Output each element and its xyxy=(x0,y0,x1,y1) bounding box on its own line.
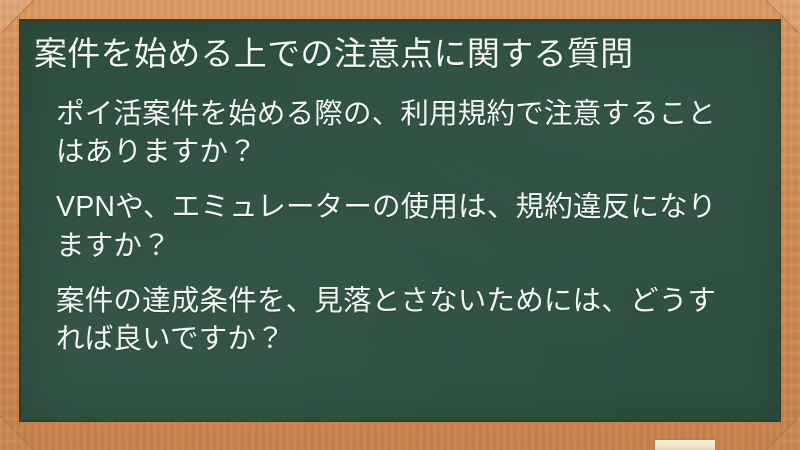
question-item: 案件の達成条件を、見落とさないためには、どうすれば良いですか？ xyxy=(56,282,728,360)
question-item: VPNや、エミュレーターの使用は、規約違反になりますか？ xyxy=(56,188,728,266)
frame-grain-right xyxy=(778,0,800,450)
chalkboard-content: 案件を始める上での注意点に関する質問 ポイ活案件を始める際の、利用規約で注意する… xyxy=(21,21,780,359)
question-item: ポイ活案件を始める際の、利用規約で注意することはありますか？ xyxy=(56,95,728,173)
question-list: ポイ活案件を始める際の、利用規約で注意することはありますか？ VPNや、エミュレ… xyxy=(32,95,738,360)
chalkboard-slide: 案件を始める上での注意点に関する質問 ポイ活案件を始める際の、利用規約で注意する… xyxy=(0,0,800,450)
chalk-eraser-icon xyxy=(655,440,715,450)
slide-title: 案件を始める上での注意点に関する質問 xyxy=(32,32,734,77)
chalkboard-surface: 案件を始める上での注意点に関する質問 ポイ活案件を始める際の、利用規約で注意する… xyxy=(19,19,781,422)
